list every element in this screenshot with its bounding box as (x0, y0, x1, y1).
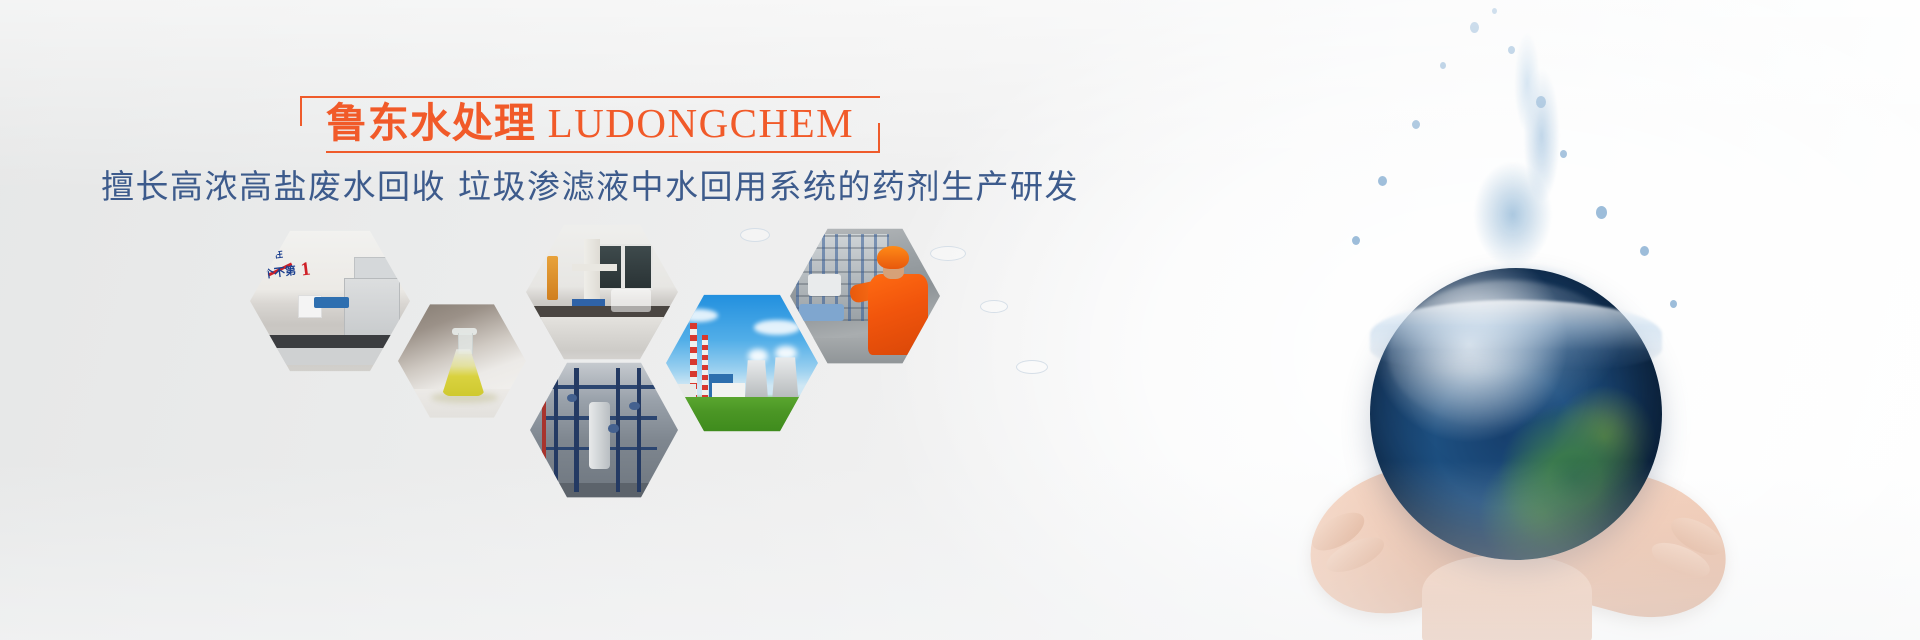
fume-hood-crossbar (572, 264, 618, 271)
floor (530, 483, 678, 500)
blue-tray (572, 299, 605, 306)
equipment-box (808, 274, 841, 296)
water-droplet-icon (1508, 46, 1515, 54)
pipe-red (542, 380, 546, 481)
water-droplet-icon (1470, 22, 1479, 33)
window-pane (623, 244, 653, 290)
lab-rack (314, 297, 349, 309)
flask-body-with-yellow-liquid (442, 349, 486, 396)
hexagon-photo-fume-hood-lab[interactable] (526, 222, 678, 362)
hexagon-photo-water-treatment-pipes[interactable] (530, 360, 678, 500)
water-droplet-icon (1560, 150, 1567, 158)
cloud-icon (678, 309, 718, 322)
wall-slogan-number: 1 (299, 259, 311, 282)
worker-body-orange-overall (868, 274, 928, 355)
water-droplet-icon (1378, 176, 1387, 186)
chimney-stack (702, 335, 707, 397)
water-surface (1370, 300, 1662, 370)
water-droplet-icon (1492, 8, 1497, 14)
pipe-vertical (554, 368, 558, 491)
water-droplet-icon (1352, 236, 1360, 245)
pipe-vertical (637, 368, 641, 491)
valve-icon (629, 402, 639, 410)
water-droplet-icon (1670, 300, 1677, 308)
pressure-vessel (589, 402, 610, 469)
cloud-icon (754, 320, 800, 334)
green-field (666, 397, 818, 434)
hexagon-photo-cluster: 做在 个不第 1 (0, 0, 1060, 640)
water-droplet-icon (1596, 206, 1607, 219)
wrist (1422, 556, 1592, 640)
hexagon-photo-laboratory-room[interactable]: 做在 个不第 1 (250, 228, 410, 374)
plant-building (712, 383, 745, 397)
wall-slogan: 做在 个不第 1 (263, 248, 346, 298)
safety-helmet-icon (877, 246, 909, 270)
water-droplet-icon (1640, 246, 1649, 256)
wall-slogan-line2: 个不第 (262, 262, 297, 282)
valve-icon (608, 424, 618, 432)
hexagon-photo-reagent-flask[interactable] (398, 302, 526, 420)
bench-base (256, 345, 403, 365)
plant-building (678, 384, 696, 397)
under-bench-cabinet (538, 317, 666, 351)
cooling-tower (772, 357, 798, 397)
hexagon-photo-power-plant[interactable] (666, 292, 818, 434)
water-droplet-icon (1536, 96, 1546, 108)
pipe-vertical (574, 368, 578, 491)
bench-top (256, 335, 403, 348)
water-droplet-icon (1412, 120, 1420, 129)
orange-stand (547, 256, 558, 301)
glassware (611, 289, 651, 311)
promo-banner: 鲁东水处理 LUDONGCHEM 擅长高浓高盐废水回收 垃圾渗滤液中水回用系统的… (0, 0, 1920, 640)
blue-valve-assembly (799, 304, 844, 321)
hexagon-photo-plant-worker[interactable] (790, 226, 940, 366)
wall-slogan-line1: 做在 (264, 247, 283, 262)
cooling-tower (745, 360, 768, 397)
water-droplet-icon (1440, 62, 1446, 69)
